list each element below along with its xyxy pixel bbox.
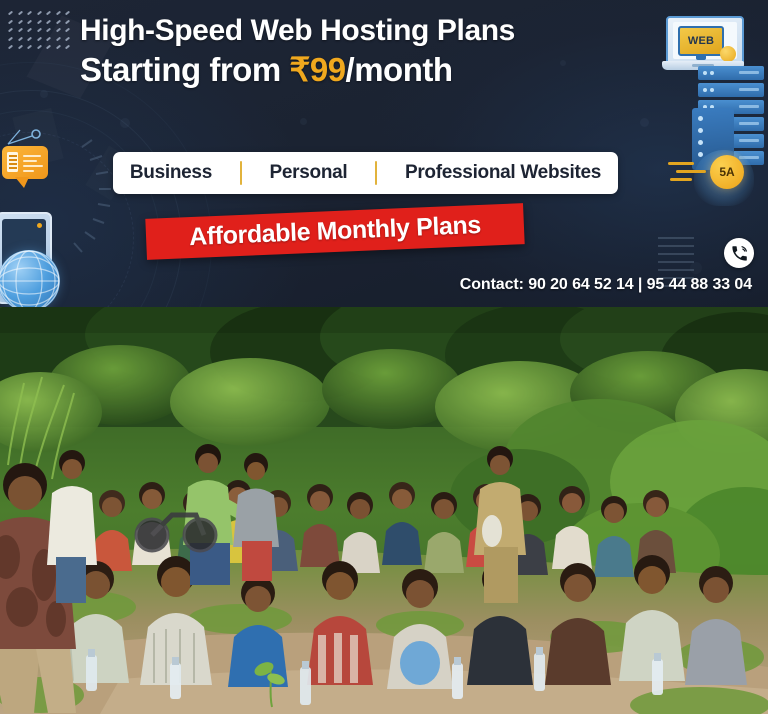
coin-icon xyxy=(720,46,736,62)
phone-call-icon[interactable] xyxy=(724,238,754,268)
category-separator xyxy=(375,161,377,185)
ribbon-label: Affordable Monthly Plans xyxy=(189,211,482,252)
dot-grid-dash xyxy=(36,19,41,24)
dot-grid-dash xyxy=(17,36,22,41)
decorative-bokeh xyxy=(120,118,130,128)
server-glyph xyxy=(7,152,18,172)
dot-grid-dash xyxy=(17,45,22,50)
dot-grid-dash xyxy=(8,19,13,24)
web-monitor-label: WEB xyxy=(688,35,714,47)
web-monitor-icon: WEB xyxy=(678,26,724,56)
dot-grid-dash xyxy=(46,11,51,16)
category-separator xyxy=(240,161,242,185)
headline-block: High-Speed Web Hosting Plans Starting fr… xyxy=(80,14,650,89)
dot-grid-dash xyxy=(36,28,41,33)
price-amount: ₹99 xyxy=(289,51,345,88)
headline-prefix: Starting from xyxy=(80,51,289,88)
dot-grid-dash xyxy=(8,28,13,33)
dot-grid-dash xyxy=(46,45,51,50)
dot-grid-dash xyxy=(55,28,60,33)
affordable-plans-ribbon: Affordable Monthly Plans xyxy=(145,203,524,260)
dot-grid-dash xyxy=(46,28,51,33)
dot-grid-dash xyxy=(55,45,60,50)
dot-grid-dash xyxy=(65,19,70,24)
dot-grid-dash xyxy=(27,36,32,41)
headline-line-2: Starting from ₹99/month xyxy=(80,51,650,89)
category-item-personal[interactable]: Personal xyxy=(264,162,354,184)
dot-grid-dash xyxy=(65,45,70,50)
dot-grid-dash xyxy=(8,11,13,16)
dot-grid-dash xyxy=(27,28,32,33)
category-item-professional-websites[interactable]: Professional Websites xyxy=(399,162,607,184)
dot-grid-dash xyxy=(46,19,51,24)
photograph-scene xyxy=(0,307,768,714)
headline-suffix: /month xyxy=(346,51,453,88)
dot-grid-dash xyxy=(27,11,32,16)
chat-bubble-server-icon xyxy=(2,146,48,179)
dot-grid-dash xyxy=(36,45,41,50)
globe-icon xyxy=(0,250,60,307)
dot-grid-dash xyxy=(36,11,41,16)
dot-grid-dash xyxy=(17,11,22,16)
decorative-bokeh xyxy=(300,118,307,125)
secure-badge-label: 5A xyxy=(719,165,734,179)
phone-glyph xyxy=(730,244,749,263)
dot-grid-pattern xyxy=(8,12,76,54)
dot-grid-dash xyxy=(27,45,32,50)
dot-grid-dash xyxy=(55,19,60,24)
dot-grid-dash xyxy=(27,19,32,24)
dot-grid-dash xyxy=(65,11,70,16)
web-hosting-ad-banner: High-Speed Web Hosting Plans Starting fr… xyxy=(0,0,768,307)
category-pill-bar: Business Personal Professional Websites xyxy=(113,152,618,194)
decorative-bokeh xyxy=(640,118,649,127)
dot-grid-dash xyxy=(46,36,51,41)
decorative-bokeh xyxy=(40,90,48,98)
dot-grid-dash xyxy=(17,28,22,33)
headline-line-1: High-Speed Web Hosting Plans xyxy=(80,14,650,49)
dot-grid-dash xyxy=(55,36,60,41)
news-photograph xyxy=(0,307,768,714)
dot-grid-dash xyxy=(65,36,70,41)
speed-lines-icon xyxy=(668,160,710,186)
secure-badge-icon: 5A xyxy=(710,155,744,189)
dot-grid-dash xyxy=(36,36,41,41)
dot-grid-dash xyxy=(8,45,13,50)
dot-grid-dash xyxy=(17,19,22,24)
dot-grid-dash xyxy=(55,11,60,16)
category-item-business[interactable]: Business xyxy=(124,162,218,184)
dot-grid-dash xyxy=(8,36,13,41)
contact-line: Contact: 90 20 64 52 14 | 95 44 88 33 04 xyxy=(460,276,752,294)
dot-grid-dash xyxy=(65,28,70,33)
ad-and-photo-page: High-Speed Web Hosting Plans Starting fr… xyxy=(0,0,768,714)
